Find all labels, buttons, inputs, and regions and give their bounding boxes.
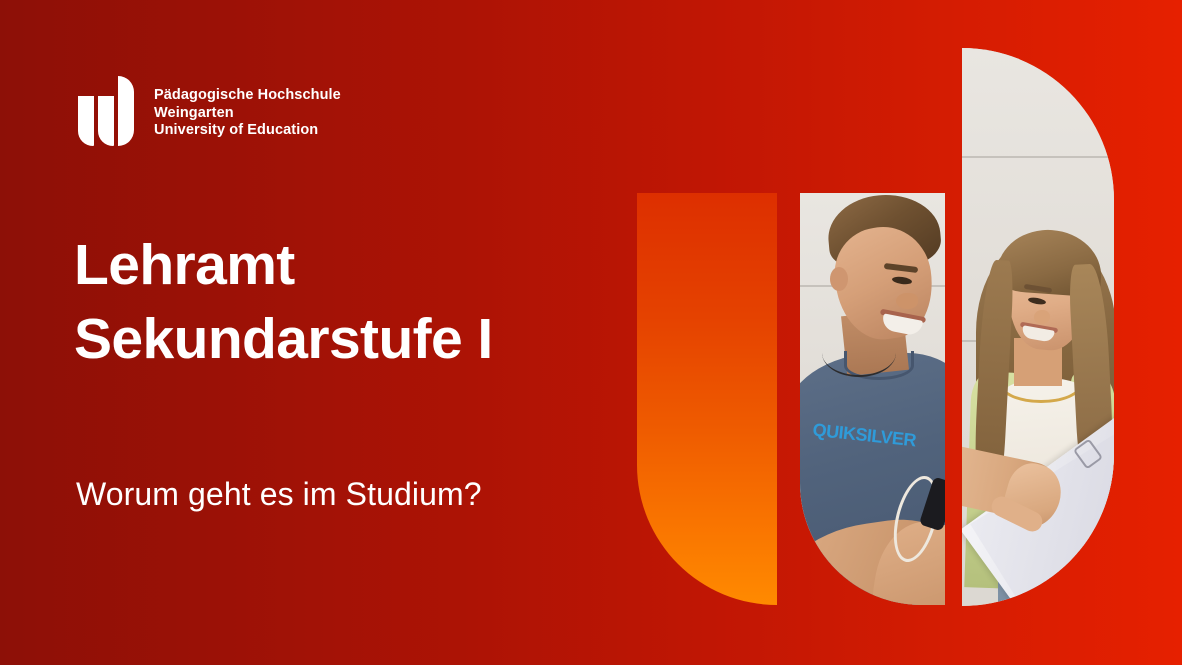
brand-logo-text: Pädagogische Hochschule Weingarten Unive… — [154, 87, 341, 140]
logo-text-line-3: University of Education — [154, 122, 341, 140]
slide-title: Lehramt Sekundarstufe I — [74, 228, 493, 376]
logo-bar-left — [78, 96, 94, 146]
necklace-cord — [822, 329, 896, 377]
nose — [1034, 310, 1050, 324]
slide-title-line-2: Sekundarstufe I — [74, 302, 493, 376]
photo-student-male: QUIKSILVER — [800, 193, 945, 605]
brand-logo[interactable]: Pädagogische Hochschule Weingarten Unive… — [78, 76, 341, 146]
photo-student-female — [962, 48, 1114, 606]
presentation-slide: Pädagogische Hochschule Weingarten Unive… — [0, 0, 1182, 665]
nose — [896, 293, 918, 309]
slide-subtitle: Worum geht es im Studium? — [76, 476, 482, 513]
ph-weingarten-logo-mark-icon — [78, 76, 134, 146]
necklace — [1000, 366, 1082, 403]
logo-bar-right — [118, 76, 134, 146]
slide-title-line-1: Lehramt — [74, 228, 493, 302]
logo-text-line-1: Pädagogische Hochschule — [154, 87, 341, 105]
logo-bar-middle — [98, 96, 114, 146]
wall-seam — [962, 156, 1114, 158]
orange-accent-panel — [637, 193, 777, 605]
photo-student-female-content — [962, 48, 1114, 606]
ear — [830, 267, 848, 291]
logo-text-line-2: Weingarten — [154, 105, 341, 123]
photo-student-male-content: QUIKSILVER — [800, 193, 945, 605]
